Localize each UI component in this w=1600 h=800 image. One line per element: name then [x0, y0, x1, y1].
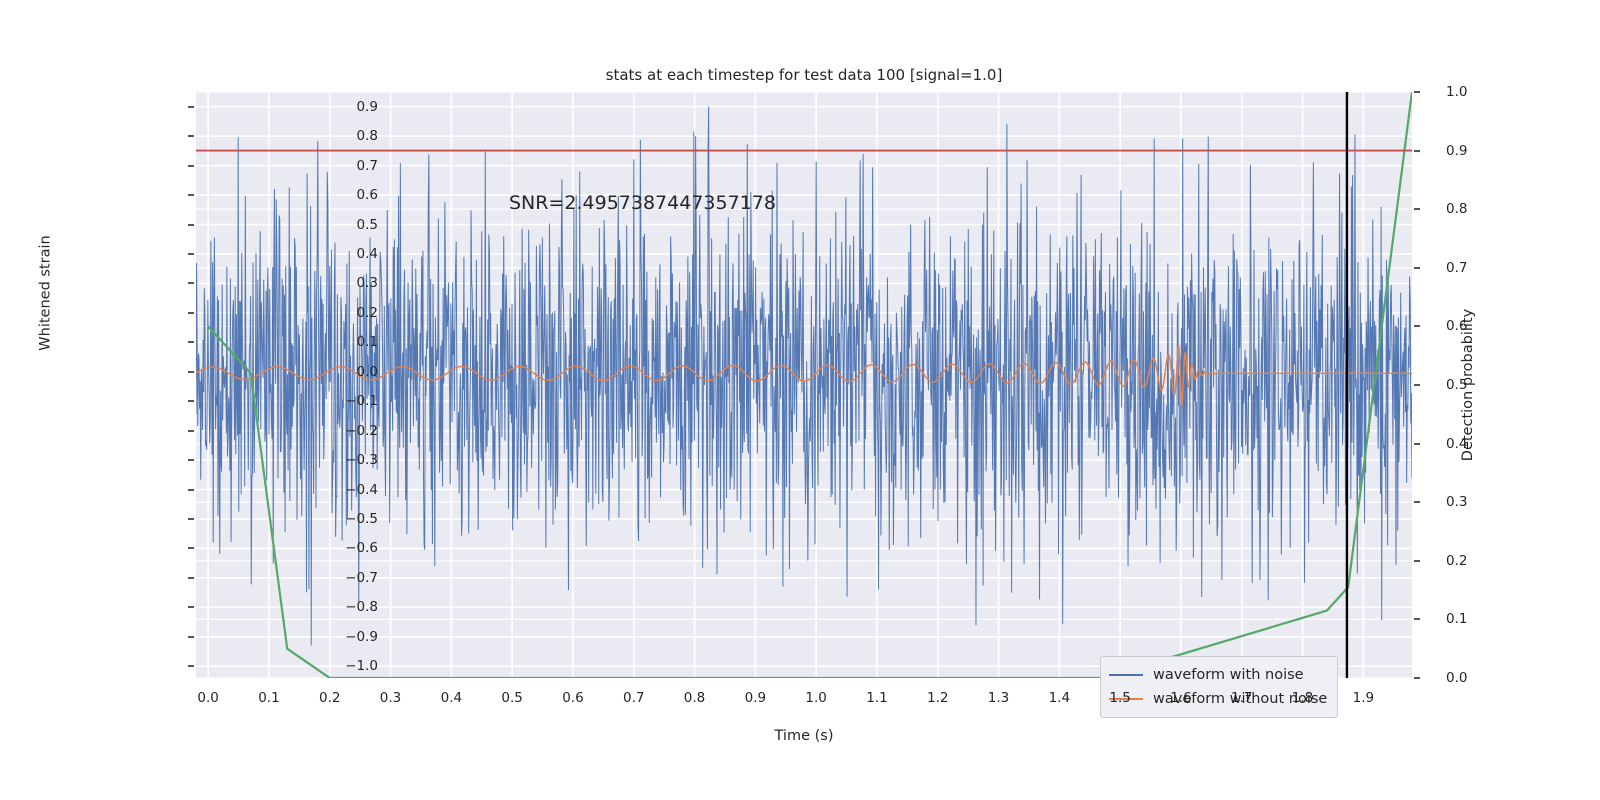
y-axis-left-tickmark: [188, 312, 194, 314]
x-axis-tick: 0.1: [258, 690, 279, 706]
x-axis-tick: 0.2: [319, 690, 340, 706]
x-axis-tick: 1.9: [1353, 690, 1374, 706]
plot-area: Detection probability SNR=2.495738744735…: [196, 92, 1412, 678]
legend-item: waveform with noise: [1109, 663, 1327, 687]
x-axis-tick: 0.5: [501, 690, 522, 706]
y-axis-left-tickmark: [188, 371, 194, 373]
y-axis-left-tick: 0.4: [298, 246, 378, 262]
y-axis-left-tickmark: [188, 518, 194, 520]
y-axis-right-tickmark: [1414, 91, 1420, 93]
y-axis-left-tick: −0.4: [298, 482, 378, 498]
x-axis-tick: 0.8: [684, 690, 705, 706]
y-axis-left-tick: −0.3: [298, 452, 378, 468]
y-axis-left-tickmark: [188, 489, 194, 491]
y-axis-left-tickmark: [188, 135, 194, 137]
y-axis-left-tickmark: [188, 636, 194, 638]
y-axis-left-tick: −0.7: [298, 570, 378, 586]
y-axis-left-tick: 0.2: [298, 305, 378, 321]
x-axis-tick: 0.9: [745, 690, 766, 706]
y-axis-right-tickmark: [1414, 560, 1420, 562]
y-axis-right-tickmark: [1414, 618, 1420, 620]
y-axis-left-tick: −0.6: [298, 540, 378, 556]
x-axis-title: Time (s): [196, 728, 1412, 744]
y-axis-right-tickmark: [1414, 443, 1420, 445]
data-traces: [196, 92, 1412, 678]
y-axis-right-tick: 0.2: [1446, 553, 1526, 569]
x-axis-tick: 0.3: [380, 690, 401, 706]
legend-swatch-waveform-with-noise: [1109, 674, 1143, 676]
y-axis-right-tickmark: [1414, 384, 1420, 386]
y-axis-left-tickmark: [188, 253, 194, 255]
chart-title: stats at each timestep for test data 100…: [196, 66, 1412, 84]
y-axis-left-tick: 0.5: [298, 217, 378, 233]
y-axis-right-tickmark: [1414, 150, 1420, 152]
x-axis-tick: 1.2: [927, 690, 948, 706]
y-axis-left-tickmark: [188, 400, 194, 402]
x-axis-tick: 0.0: [197, 690, 218, 706]
x-axis-tick: 1.4: [1049, 690, 1070, 706]
y-axis-left-tick: 0.3: [298, 275, 378, 291]
y-axis-left-tickmark: [188, 282, 194, 284]
y-axis-left-tick: −0.2: [298, 423, 378, 439]
y-axis-left-tick: −0.5: [298, 511, 378, 527]
y-axis-right-tick: 0.6: [1446, 318, 1526, 334]
x-axis-tick: 1.1: [866, 690, 887, 706]
y-axis-left-tick: −1.0: [298, 658, 378, 674]
y-axis-right-tickmark: [1414, 677, 1420, 679]
y-axis-right-tick: 0.1: [1446, 611, 1526, 627]
y-axis-left-title-text: Whitened strain: [38, 235, 54, 350]
y-axis-left-tick: 0.8: [298, 128, 378, 144]
x-axis-tick: 1.3: [988, 690, 1009, 706]
y-axis-left-tickmark: [188, 547, 194, 549]
y-axis-right-tick: 0.8: [1446, 201, 1526, 217]
y-axis-left-tick: −0.9: [298, 629, 378, 645]
x-axis-tick: 1.0: [805, 690, 826, 706]
x-axis-tick: 1.6: [1170, 690, 1191, 706]
x-axis-tick: 0.7: [623, 690, 644, 706]
y-axis-right-tick: 0.4: [1446, 436, 1526, 452]
y-axis-right-tick: 0.3: [1446, 494, 1526, 510]
x-axis-tick: 1.7: [1231, 690, 1252, 706]
y-axis-left-tickmark: [188, 165, 194, 167]
y-axis-left-tickmark: [188, 606, 194, 608]
x-axis-tick: 0.6: [562, 690, 583, 706]
x-axis-tick: 0.4: [441, 690, 462, 706]
y-axis-right-tick: 0.5: [1446, 377, 1526, 393]
y-axis-right-tickmark: [1414, 501, 1420, 503]
y-axis-left-tickmark: [188, 430, 194, 432]
y-axis-right-tick: 0.9: [1446, 143, 1526, 159]
chart-legend[interactable]: waveform with noise waveform without noi…: [1100, 656, 1338, 718]
y-axis-left-tickmark: [188, 665, 194, 667]
snr-annotation: SNR=2.4957387447357178: [509, 192, 776, 214]
y-axis-left-tickmark: [188, 341, 194, 343]
x-axis-tick: 1.8: [1292, 690, 1313, 706]
y-axis-left-tickmark: [188, 224, 194, 226]
y-axis-right-tick: 1.0: [1446, 84, 1526, 100]
y-axis-left-tick: 0.0: [298, 364, 378, 380]
y-axis-left-tick: 0.1: [298, 334, 378, 350]
y-axis-right-tickmark: [1414, 325, 1420, 327]
y-axis-left-tick: 0.7: [298, 158, 378, 174]
y-axis-right-tickmark: [1414, 267, 1420, 269]
y-axis-left-tickmark: [188, 577, 194, 579]
y-axis-left-tick: 0.9: [298, 99, 378, 115]
y-axis-left-tick: 0.6: [298, 187, 378, 203]
y-axis-left-tickmark: [188, 194, 194, 196]
y-axis-right-tick: 0.0: [1446, 670, 1526, 686]
y-axis-left-tick: −0.1: [298, 393, 378, 409]
y-axis-left-tickmark: [188, 459, 194, 461]
figure-canvas: stats at each timestep for test data 100…: [0, 0, 1600, 800]
y-axis-right-tickmark: [1414, 208, 1420, 210]
y-axis-left-title: Whitened strain: [36, 0, 56, 586]
legend-label-waveform-with-noise: waveform with noise: [1153, 667, 1304, 683]
x-axis-tick: 1.5: [1109, 690, 1130, 706]
y-axis-left-tick: −0.8: [298, 599, 378, 615]
y-axis-left-tickmark: [188, 106, 194, 108]
y-axis-right-tick: 0.7: [1446, 260, 1526, 276]
